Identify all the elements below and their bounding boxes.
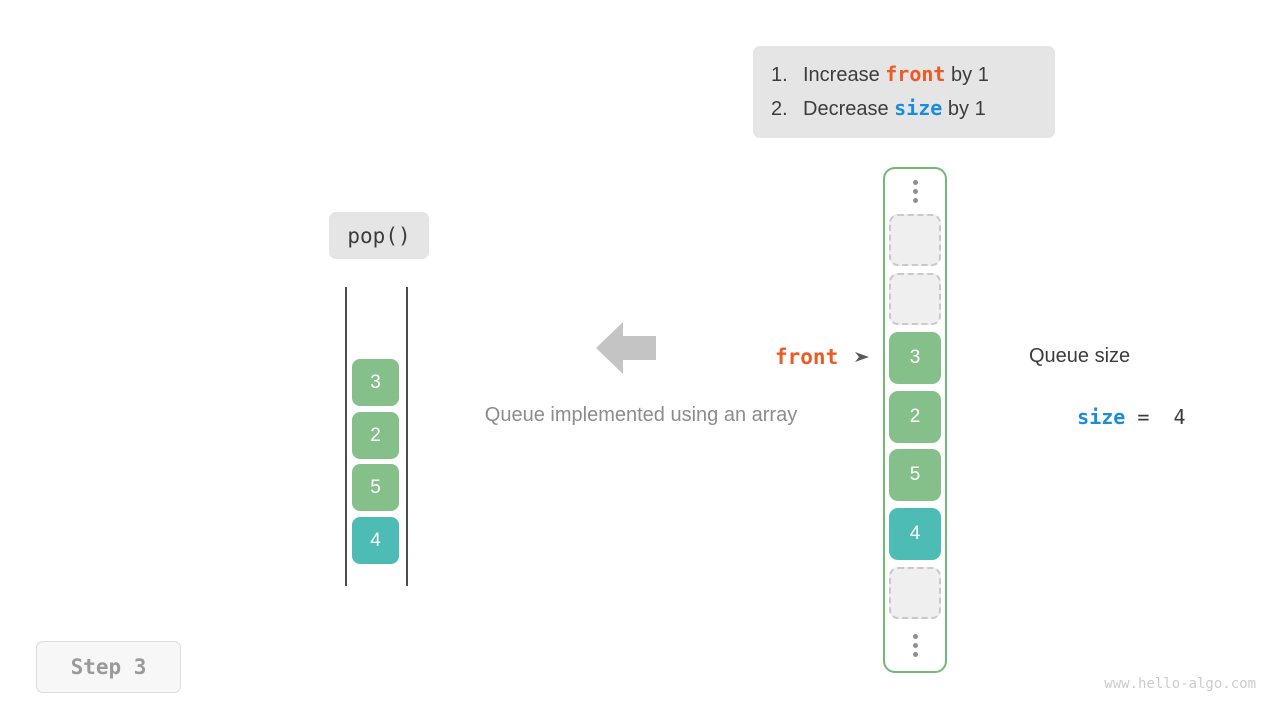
queue-cell: 2 [352,412,399,459]
array-cell: 2 [889,391,941,443]
queue-cell: 5 [352,464,399,511]
array-cell-empty [889,273,941,325]
array-cell-empty [889,214,941,266]
instruction-item-1: 1. Increase front by 1 [771,58,1035,92]
illustration-canvas: 1. Increase front by 1 2. Decrease size … [0,0,1280,720]
diagram-caption: Queue implemented using an array [455,404,827,427]
array-cell: 5 [889,449,941,501]
instruction-text-post: by 1 [942,93,985,126]
front-pointer-label: front [775,345,838,369]
size-keyword: size [1077,405,1125,429]
queue-size-expression: size = 4 [1029,381,1186,453]
array-cell-empty [889,567,941,619]
instruction-text-pre: Increase [803,59,885,92]
instruction-number: 2. [771,93,803,126]
queue-size-label: Queue size [1029,345,1130,368]
instruction-panel: 1. Increase front by 1 2. Decrease size … [753,46,1055,138]
array-cell: 4 [889,508,941,560]
array-cell: 3 [889,332,941,384]
queue-cell: 4 [352,517,399,564]
vertical-ellipsis-icon [912,180,918,203]
size-value: = 4 [1125,405,1185,429]
front-pointer-arrow-icon [855,350,871,364]
queue-cell: 3 [352,359,399,406]
watermark: www.hello-algo.com [1104,676,1256,692]
operation-badge-pop: pop() [329,212,429,259]
queue-rail-right [406,287,408,586]
vertical-ellipsis-icon [912,634,918,657]
instruction-item-2: 2. Decrease size by 1 [771,92,1035,126]
instruction-text-post: by 1 [945,59,988,92]
instruction-code-size: size [894,92,942,125]
instruction-text-pre: Decrease [803,93,894,126]
left-arrow-icon [596,321,656,375]
instruction-code-front: front [885,58,945,91]
step-badge: Step 3 [36,641,181,693]
instruction-number: 1. [771,59,803,92]
queue-rail-left [345,287,347,586]
